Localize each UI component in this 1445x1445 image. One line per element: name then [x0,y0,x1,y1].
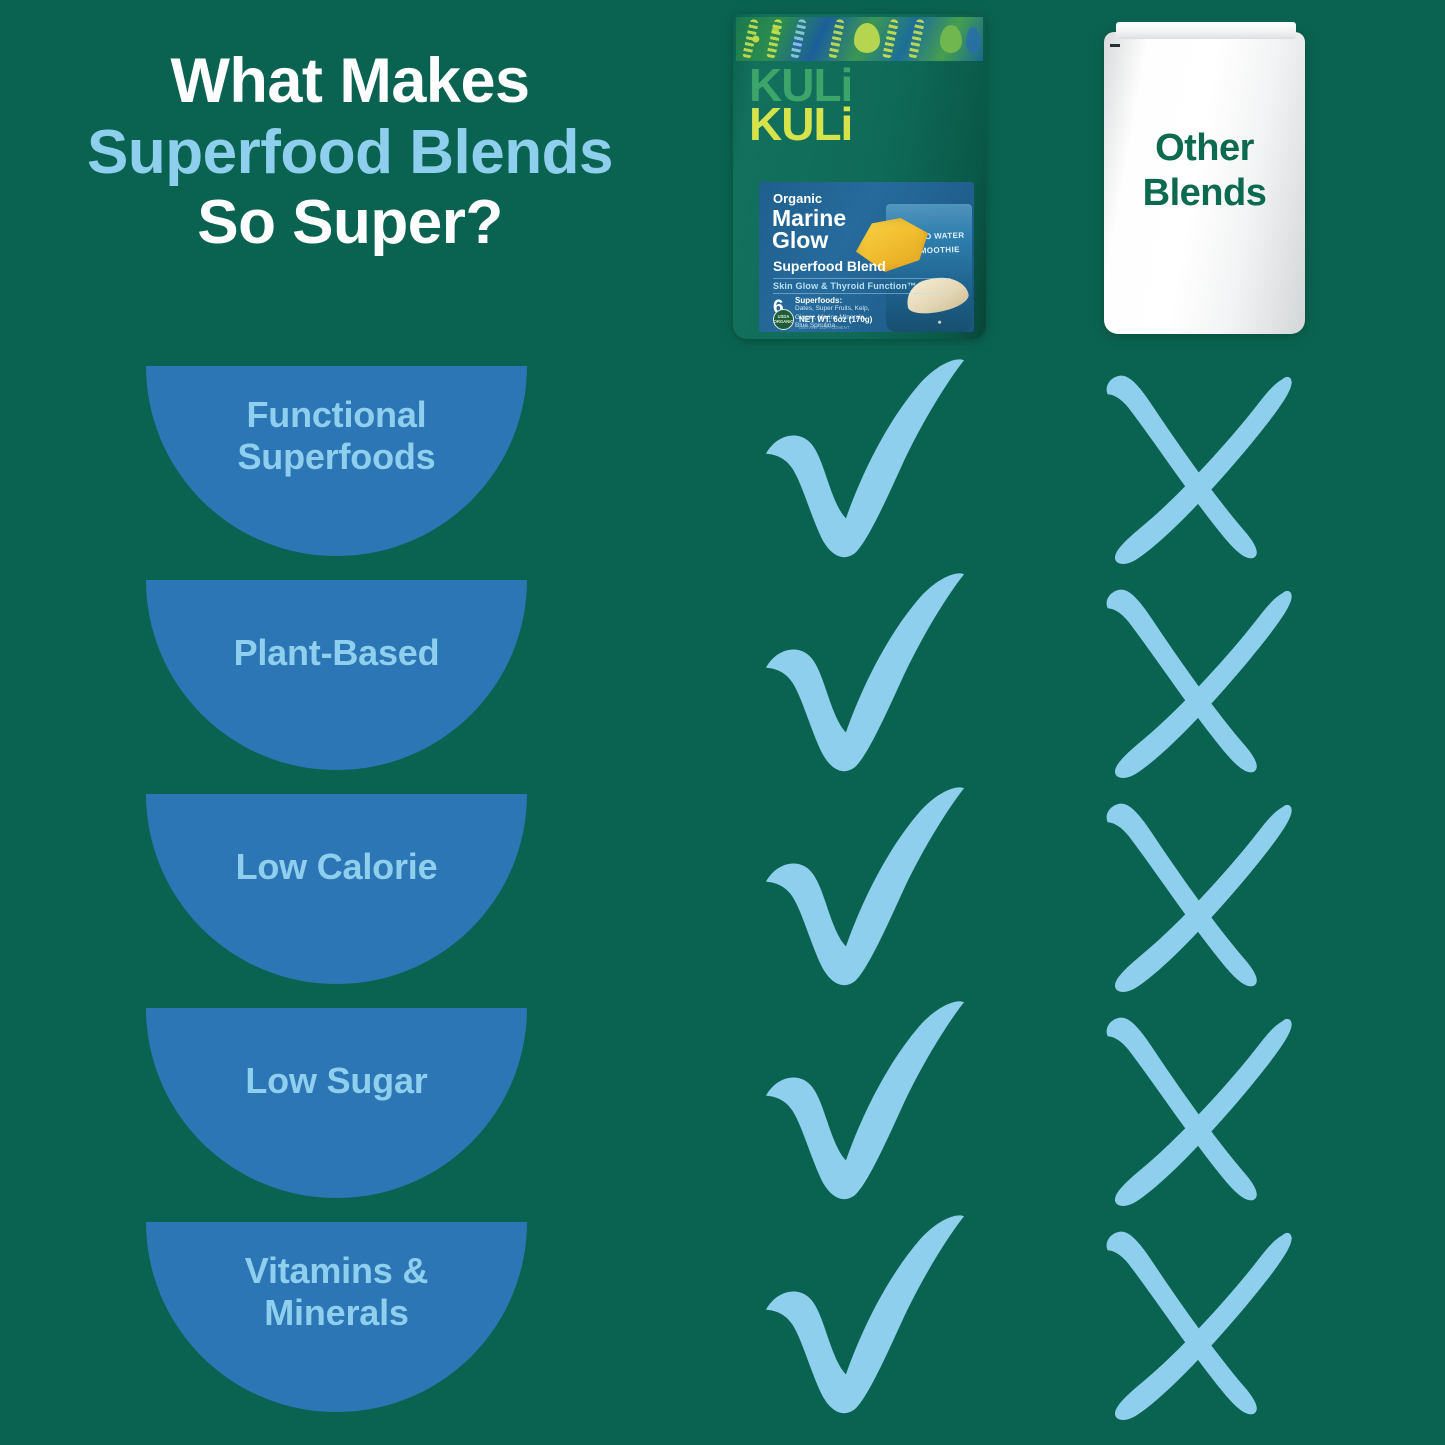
product-subtitle: Superfood Blend [773,258,886,274]
other-blends-cross-cell-0 [1090,374,1310,564]
feature-badge-1[interactable]: Plant-Based [146,580,527,770]
check-icon [735,794,995,994]
check-icon [735,1222,995,1422]
feature-row: Vitamins & Minerals [0,1222,1445,1436]
feature-badge-0[interactable]: Functional Superfoods [146,366,527,556]
feature-label: Low Sugar [245,1008,427,1102]
package-body: KULi KULi MIX INTO WATER OR SMOOTHIE Org… [733,14,986,339]
package-pattern-band [736,17,983,61]
cross-icon [1090,1016,1310,1206]
other-blends-line-2: Blends [1143,172,1267,214]
kuli-kuli-product-package: KULi KULi MIX INTO WATER OR SMOOTHIE Org… [733,14,986,339]
product-name-line-2: Glow [772,227,828,253]
other-blends-cross-cell-3 [1090,1016,1310,1206]
other-blends-cross-cell-2 [1090,802,1310,992]
kuli-kuli-check-cell-0 [735,366,995,566]
comparison-infographic: What Makes Superfood Blends So Super? KU… [0,0,1445,1445]
other-blends-cross-cell-4 [1090,1230,1310,1420]
net-weight: NET WT. 6oz (170g) [799,315,872,324]
cross-icon [1090,1230,1310,1420]
kuli-kuli-check-cell-3 [735,1008,995,1208]
product-name: Marine Glow [772,207,846,251]
kuli-kuli-wordmark: KULi KULi [749,66,971,143]
check-icon [735,580,995,780]
kuli-kuli-check-cell-4 [735,1222,995,1422]
feature-label: Low Calorie [236,794,438,888]
feature-badge-3[interactable]: Low Sugar [146,1008,527,1198]
feature-row: Plant-Based [0,580,1445,794]
other-blends-label: Other Blends [1104,126,1305,216]
feature-label: Functional Superfoods [237,366,435,479]
other-blends-product-package: Other Blends [1104,22,1305,334]
title-line-1: What Makes [0,46,700,118]
feature-label: Vitamins & Minerals [245,1222,428,1335]
other-package-tear-notch-icon [1110,44,1120,47]
title-line-3: So Super? [0,188,700,259]
feature-row: Low Sugar [0,1008,1445,1222]
feature-badge-4[interactable]: Vitamins & Minerals [146,1222,527,1412]
package-front-label: MIX INTO WATER OR SMOOTHIE Organic Marin… [759,182,974,332]
product-claim: Skin Glow & Thyroid Function™ [773,278,951,294]
cross-icon [1090,374,1310,564]
feature-label: Plant-Based [234,580,440,674]
organic-label: Organic [773,191,822,206]
package-small-print: DIETARY SUPPLEMENT [799,325,850,330]
cross-icon [1090,802,1310,992]
check-icon [735,1008,995,1208]
title-line-2: Superfood Blends [0,118,700,189]
brand-line-2: KULi [749,105,971,144]
check-icon [735,366,995,566]
page-title: What Makes Superfood Blends So Super? [0,46,700,259]
other-blends-line-1: Other [1155,127,1254,169]
other-package-zipper [1116,22,1296,39]
superfoods-heading: Superfoods: [795,296,842,305]
feature-row: Functional Superfoods [0,366,1445,580]
kuli-kuli-check-cell-2 [735,794,995,994]
other-blends-cross-cell-1 [1090,588,1310,778]
kuli-kuli-check-cell-1 [735,580,995,780]
feature-badge-2[interactable]: Low Calorie [146,794,527,984]
cross-icon [1090,588,1310,778]
feature-row: Low Calorie [0,794,1445,1008]
usda-organic-seal-icon: USDA ORGANIC [773,309,794,330]
